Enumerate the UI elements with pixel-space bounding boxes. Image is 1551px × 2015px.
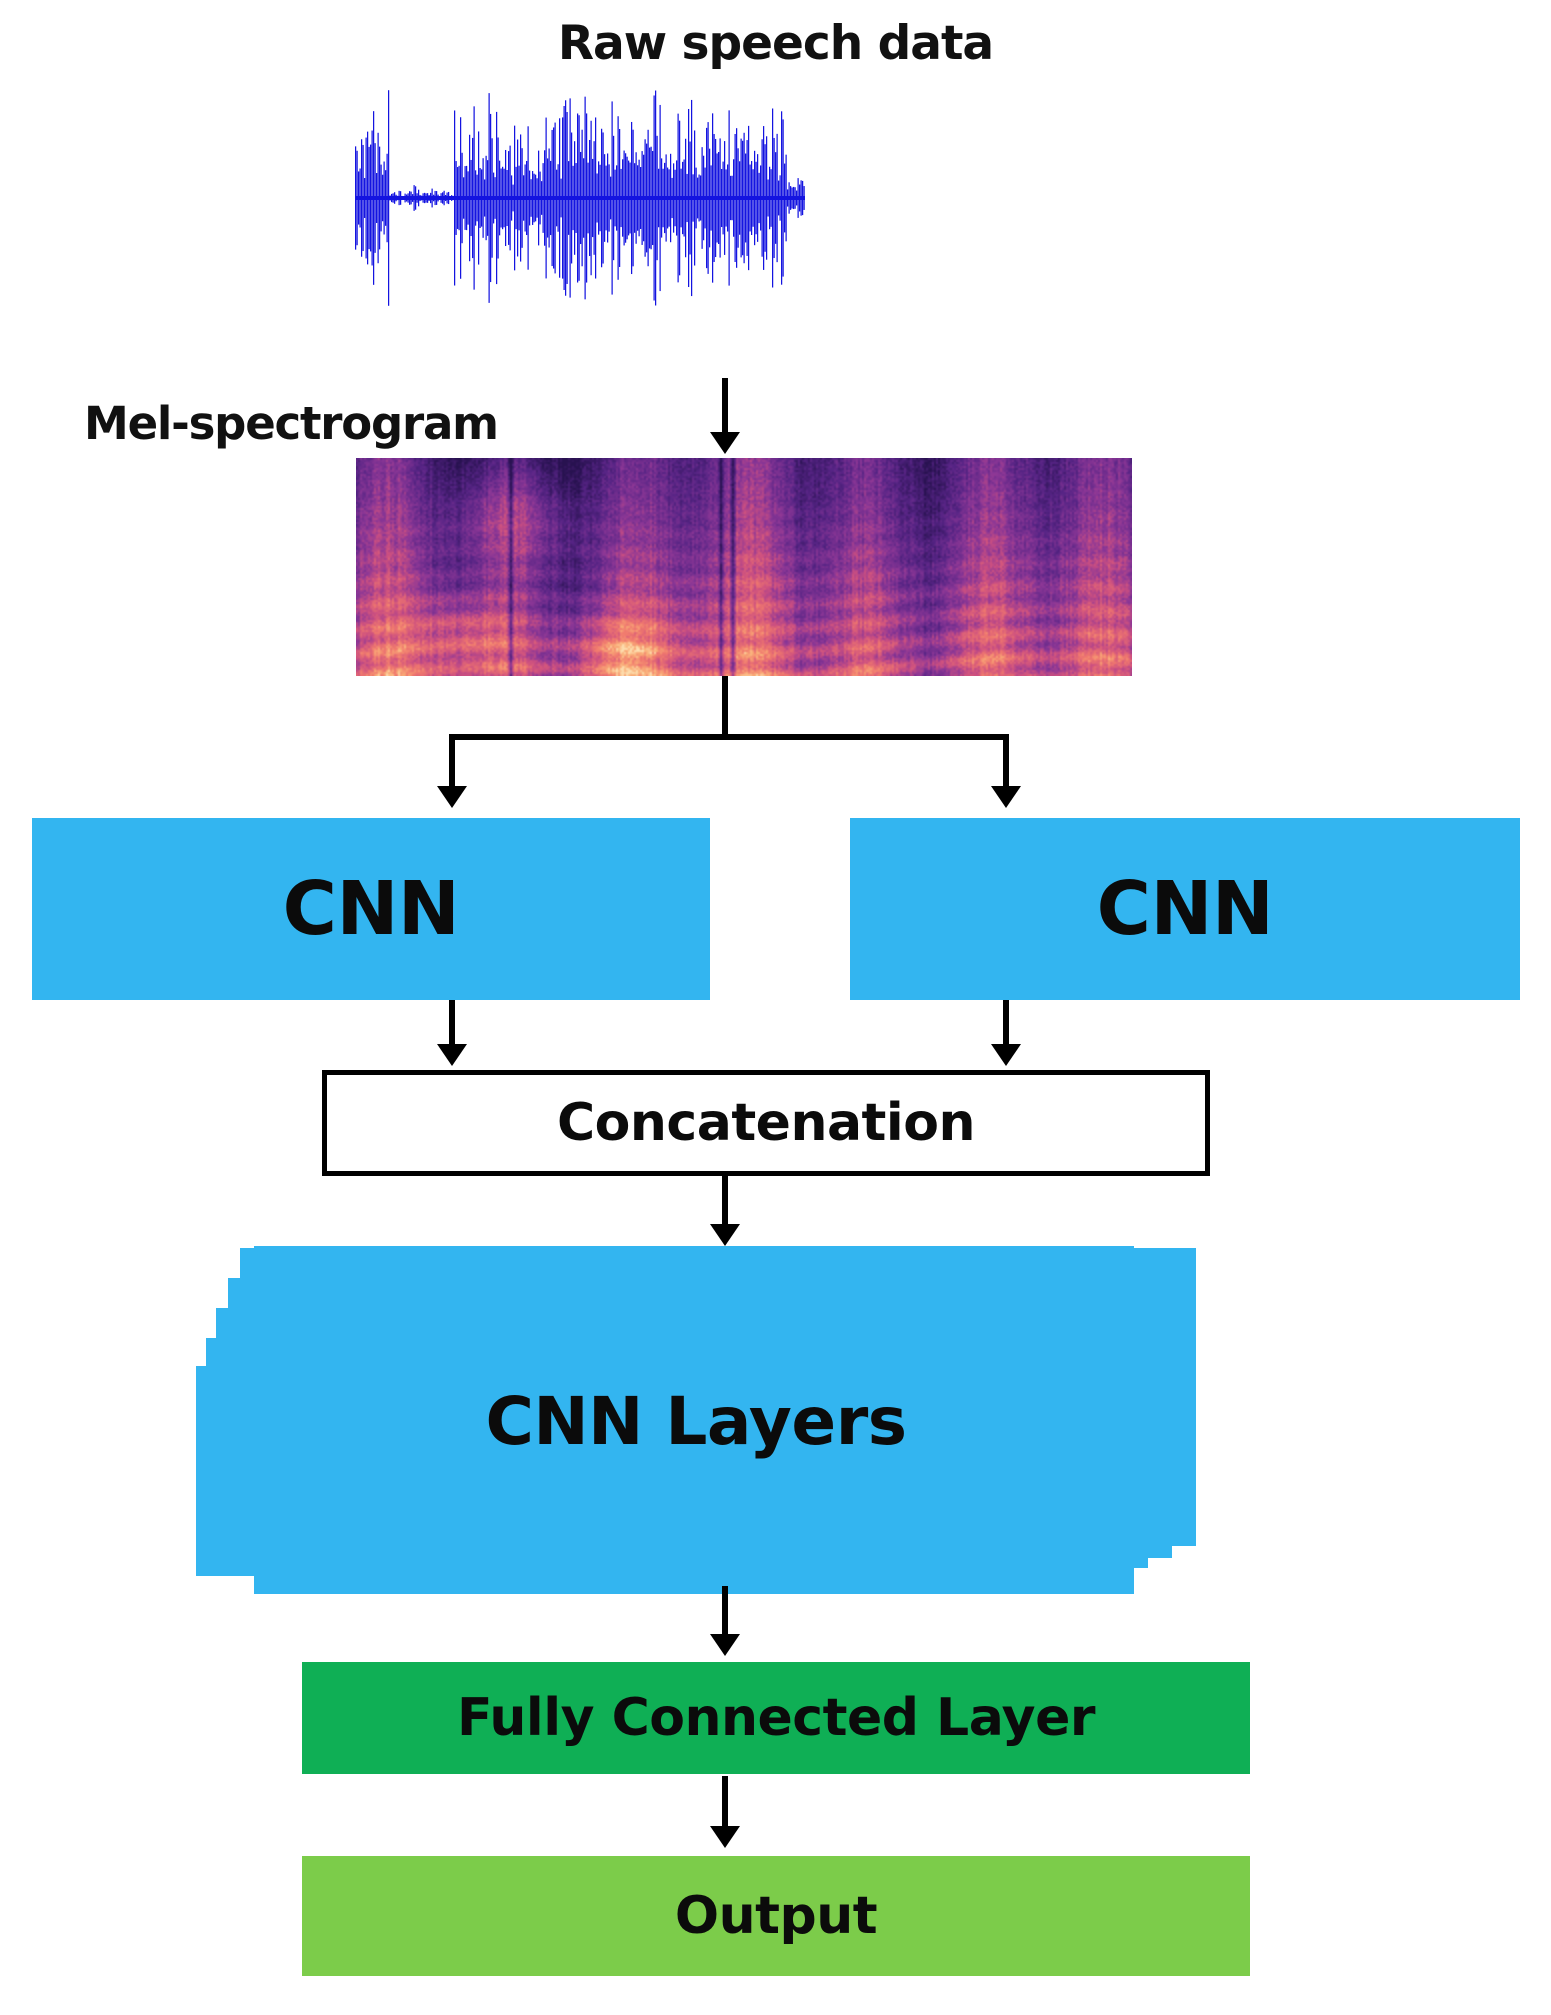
connector-branch-right bbox=[1003, 734, 1009, 790]
connector-spectrogram-down bbox=[722, 676, 728, 740]
mel-spectrogram-label: Mel-spectrogram bbox=[84, 397, 498, 450]
waveform-icon bbox=[355, 88, 805, 308]
page-title: Raw speech data bbox=[0, 16, 1551, 71]
connector-left-cnn-to-concat bbox=[449, 1000, 455, 1048]
connector-right-cnn-to-concat bbox=[1003, 1000, 1009, 1048]
cnn-right-box[interactable]: CNN bbox=[850, 818, 1520, 1000]
down-arrow-icon bbox=[710, 432, 740, 454]
output-box[interactable]: Output bbox=[302, 1856, 1250, 1976]
down-arrow-icon-left-cnn bbox=[437, 786, 467, 808]
cnn-layer-sheet-front bbox=[254, 1246, 1134, 1594]
down-arrow-icon-concat-left bbox=[437, 1044, 467, 1066]
connector-concat-to-cnn-layers bbox=[722, 1176, 728, 1228]
down-arrow-icon-cnn-layers bbox=[710, 1224, 740, 1246]
down-arrow-icon-right-cnn bbox=[991, 786, 1021, 808]
down-arrow-icon-output bbox=[710, 1826, 740, 1848]
connector-cnn-layers-to-fc bbox=[722, 1586, 728, 1638]
mel-spectrogram-icon bbox=[356, 458, 1132, 676]
arrow-waveform-to-spectrogram bbox=[722, 378, 728, 436]
down-arrow-icon-fc bbox=[710, 1634, 740, 1656]
cnn-layers-stack[interactable] bbox=[196, 1246, 1196, 1596]
connector-branch-left bbox=[449, 734, 455, 790]
cnn-left-box[interactable]: CNN bbox=[32, 818, 710, 1000]
connector-fc-to-output bbox=[722, 1776, 728, 1830]
concatenation-box[interactable]: Concatenation bbox=[322, 1070, 1210, 1176]
fully-connected-layer-box[interactable]: Fully Connected Layer bbox=[302, 1662, 1250, 1774]
connector-split-horizontal bbox=[449, 734, 1009, 740]
diagram-canvas: Raw speech data Mel-spectrogram CNN CNN … bbox=[0, 0, 1551, 2015]
down-arrow-icon-concat-right bbox=[991, 1044, 1021, 1066]
